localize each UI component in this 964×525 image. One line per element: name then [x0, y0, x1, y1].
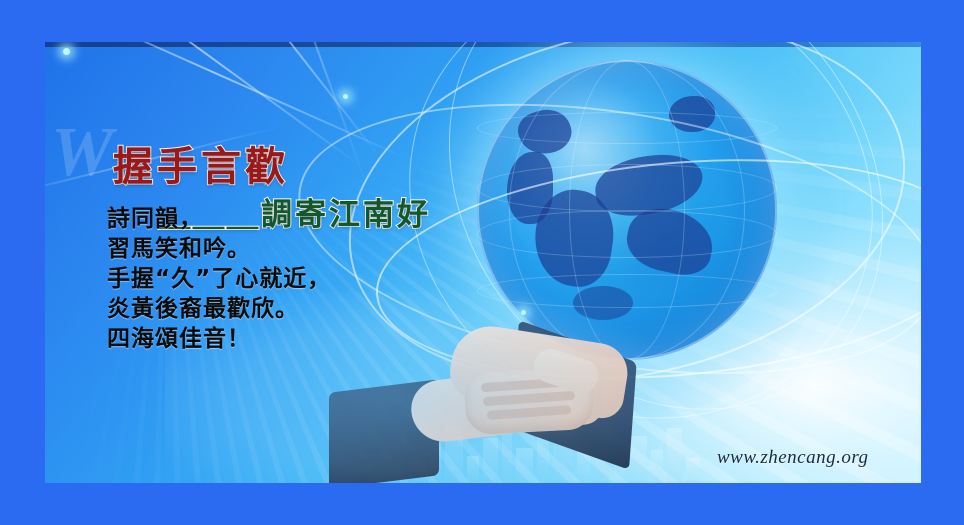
poem-line: 詩同韻，	[107, 204, 331, 234]
poem-line: 炎黃後裔最歡欣。	[107, 294, 331, 324]
poem-line: 手握“久”了心就近，	[107, 264, 331, 294]
w-watermark-letter: W	[51, 118, 111, 188]
light-spark-icon	[63, 48, 70, 55]
artwork-canvas: W	[45, 42, 921, 483]
poster-frame: W	[0, 0, 964, 525]
poster-title: 握手言歡	[113, 134, 289, 192]
poem-block: 詩同韻， 習馬笑和吟。 手握“久”了心就近， 炎黃後裔最歡欣。 四海頌佳音！	[107, 204, 331, 354]
building-shape	[686, 458, 700, 483]
poem-line: 四海頌佳音！	[107, 324, 331, 354]
site-watermark: www.zhencang.org	[717, 447, 869, 469]
light-spark-icon	[343, 94, 348, 99]
poem-line: 習馬笑和吟。	[107, 234, 331, 264]
